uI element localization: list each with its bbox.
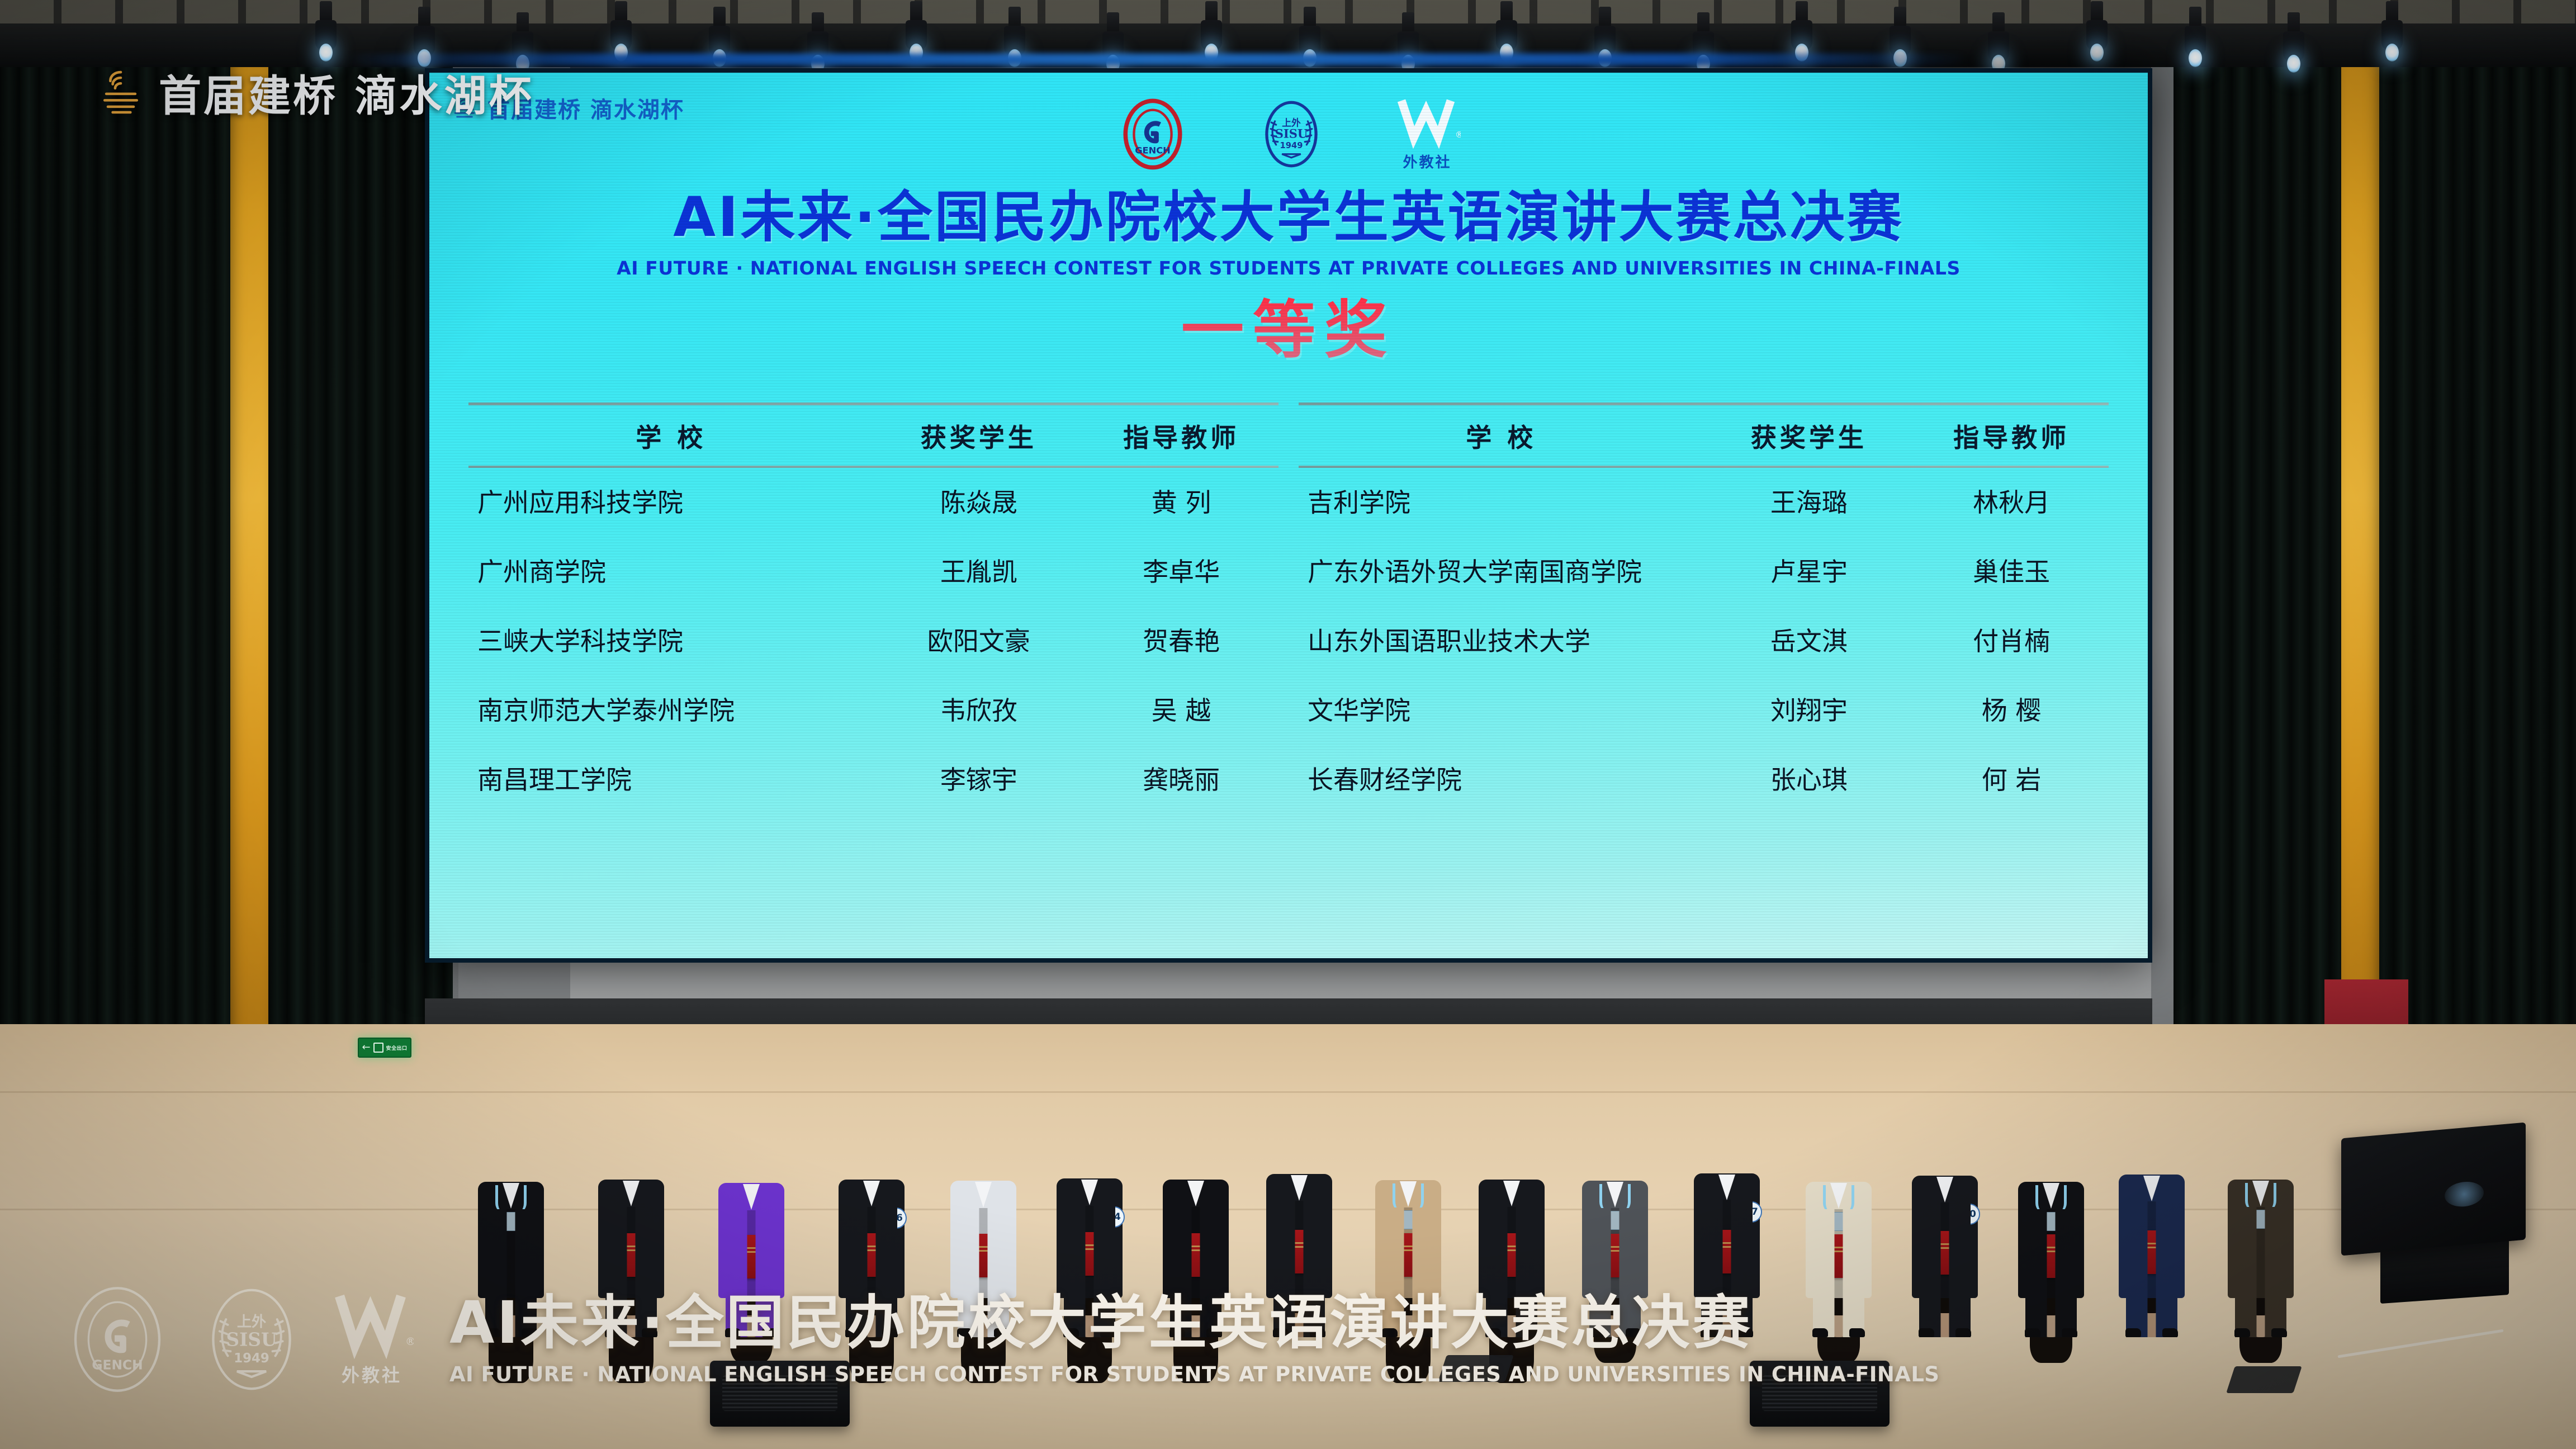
cell-school: 长春财经学院 [1299, 765, 1704, 795]
banner-logo-row: GENCH 上外 SISU 1949 ® 外教社 [61, 1284, 414, 1395]
table-row: 吉利学院王海璐林秋月 [1299, 468, 2109, 537]
top-left-watermark: 首届建桥 滴水湖杯 [95, 61, 533, 123]
svg-text:SISU: SISU [1275, 126, 1308, 140]
banner-text-block: AI未来·全国民办院校大学生英语演讲大赛总决赛 AI FUTURE · NATI… [449, 1292, 1939, 1386]
gench-logo: GENCH [1116, 98, 1189, 171]
gench-logo-icon: GENCH [1116, 98, 1189, 171]
stage-spotlight [2281, 12, 2307, 75]
cell-school: 三峡大学科技学院 [468, 626, 874, 656]
cell-student: 韦欣孜 [874, 695, 1085, 726]
table-row: 南京师范大学泰州学院韦欣孜吴 越 [468, 676, 1278, 745]
cell-teacher: 李卓华 [1084, 557, 1278, 587]
column-header-student: 获奖学生 [1704, 418, 1915, 454]
shell-spiral-logo-icon [95, 67, 146, 118]
cell-school: 文华学院 [1299, 695, 1704, 726]
winners-table-right: 学 校获奖学生指导教师吉利学院王海璐林秋月广东外语外贸大学南国商学院卢星宇巢佳玉… [1299, 402, 2109, 815]
cell-teacher: 付肖楠 [1914, 626, 2109, 656]
cell-teacher: 杨 樱 [1914, 695, 2109, 726]
table-rule-header [1299, 466, 2109, 468]
column-header-school: 学 校 [468, 418, 874, 454]
cell-school: 广州应用科技学院 [468, 487, 874, 518]
cell-teacher: 龚晓丽 [1084, 765, 1278, 795]
led-screen-frame: 首届建桥 滴水湖杯 GENCH [425, 68, 2152, 963]
sisu-logo-icon: 上外 SISU 1949 [1256, 99, 1327, 169]
led-screen: 首届建桥 滴水湖杯 GENCH [429, 73, 2148, 958]
table-row: 广东外语外贸大学南国商学院卢星宇巢佳玉 [1299, 537, 2109, 607]
winners-tables: 学 校获奖学生指导教师广州应用科技学院陈焱晟黄 列广州商学院王胤凯李卓华三峡大学… [468, 402, 2109, 815]
cell-teacher: 黄 列 [1084, 487, 1278, 518]
cell-school: 广州商学院 [468, 557, 874, 587]
table-header-row: 学 校获奖学生指导教师 [1299, 405, 2109, 466]
screen-logo-row: GENCH 上外 SISU 1949 [429, 96, 2148, 172]
cell-student: 岳文淇 [1704, 626, 1915, 656]
stage-spotlight [1986, 12, 2011, 75]
award-level-heading: 一等奖 [429, 296, 2148, 365]
svg-text:GENCH: GENCH [1135, 145, 1171, 155]
cell-school: 山东外国语职业技术大学 [1299, 626, 1704, 656]
w-logo-icon: ® [330, 1292, 414, 1359]
cell-teacher: 吴 越 [1084, 695, 1278, 726]
cell-teacher: 贺春艳 [1084, 626, 1278, 656]
w-logo-icon: ® [1394, 96, 1461, 150]
table-rule-top [468, 402, 1278, 405]
table-row: 三峡大学科技学院欧阳文豪贺春艳 [468, 607, 1278, 676]
column-header-student: 获奖学生 [874, 418, 1085, 454]
banner-title-cn: AI未来·全国民办院校大学生英语演讲大赛总决赛 [449, 1292, 1939, 1353]
cell-teacher: 林秋月 [1914, 487, 2109, 518]
cell-school: 广东外语外贸大学南国商学院 [1299, 557, 1704, 587]
sisu-logo-icon: 上外 SISU 1949 [197, 1285, 306, 1394]
table-rule-top [1299, 402, 2109, 405]
cell-student: 张心琪 [1704, 765, 1915, 795]
svg-text:GENCH: GENCH [92, 1357, 143, 1372]
column-header-teacher: 指导教师 [1084, 418, 1278, 454]
screen-title-cn: AI未来·全国民办院校大学生英语演讲大赛总决赛 [429, 190, 2148, 245]
cell-student: 李镓宇 [874, 765, 1085, 795]
cell-teacher: 巢佳玉 [1914, 557, 2109, 587]
svg-text:®: ® [1455, 130, 1461, 140]
cell-teacher: 何 岩 [1914, 765, 2109, 795]
svg-text:®: ® [405, 1336, 414, 1348]
stage-photo: 首届建桥 滴水湖杯 GENCH [0, 0, 2576, 1449]
cell-student: 刘翔宇 [1704, 695, 1915, 726]
cell-school: 南昌理工学院 [468, 765, 874, 795]
table-row: 广州商学院王胤凯李卓华 [468, 537, 1278, 607]
table-row: 文华学院刘翔宇杨 樱 [1299, 676, 2109, 745]
table-row: 山东外国语职业技术大学岳文淇付肖楠 [1299, 607, 2109, 676]
cell-student: 卢星宇 [1704, 557, 1915, 587]
cell-student: 王胤凯 [874, 557, 1085, 587]
table-row: 长春财经学院张心琪何 岩 [1299, 745, 2109, 815]
stage-spotlight [2084, 1, 2110, 64]
table-row: 南昌理工学院李镓宇龚晓丽 [468, 745, 1278, 815]
stage-spotlight [2379, 1, 2405, 64]
gench-logo-icon: GENCH [61, 1284, 173, 1395]
cell-school: 吉利学院 [1299, 487, 1704, 518]
fltrp-logo-caption: 外教社 [1403, 151, 1451, 172]
table-row: 广州应用科技学院陈焱晟黄 列 [468, 468, 1278, 537]
fltrp-w-logo: ® 外教社 [1394, 96, 1461, 172]
svg-text:SISU: SISU [226, 1328, 277, 1350]
sisu-logo: 上外 SISU 1949 [1256, 99, 1327, 169]
cell-student: 欧阳文豪 [874, 626, 1085, 656]
truss-blue-glow [347, 54, 1968, 66]
svg-text:1949: 1949 [1280, 141, 1303, 150]
banner-title-en: AI FUTURE · NATIONAL ENGLISH SPEECH CONT… [449, 1362, 1939, 1386]
bottom-title-banner: GENCH 上外 SISU 1949 ® 外教社 [0, 1230, 2576, 1449]
stage-spotlight [2182, 7, 2208, 69]
cell-student: 王海璐 [1704, 487, 1915, 518]
cell-school: 南京师范大学泰州学院 [468, 695, 874, 726]
stage-spotlight [313, 1, 339, 64]
top-left-watermark-text: 首届建桥 滴水湖杯 [159, 61, 533, 123]
column-header-teacher: 指导教师 [1914, 418, 2109, 454]
svg-text:1949: 1949 [234, 1351, 269, 1366]
column-header-school: 学 校 [1299, 418, 1704, 454]
screen-title-en: AI FUTURE · NATIONAL ENGLISH SPEECH CONT… [429, 257, 2148, 279]
banner-fltrp-caption: 外教社 [342, 1361, 402, 1387]
table-rule-header [468, 466, 1278, 468]
cell-student: 陈焱晟 [874, 487, 1085, 518]
table-header-row: 学 校获奖学生指导教师 [468, 405, 1278, 466]
winners-table-left: 学 校获奖学生指导教师广州应用科技学院陈焱晟黄 列广州商学院王胤凯李卓华三峡大学… [468, 402, 1278, 815]
